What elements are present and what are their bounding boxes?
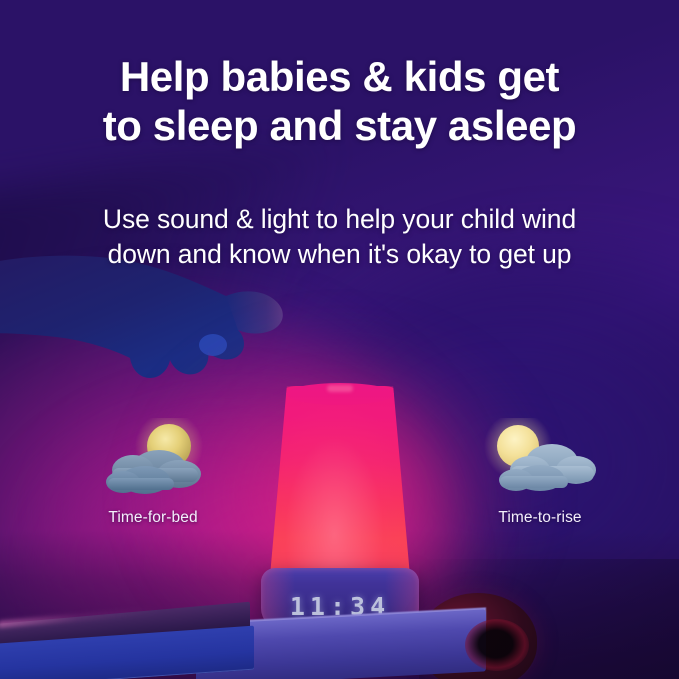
feature-time-for-bed: Time-for-bed (68, 418, 238, 527)
sun-clouds-art (480, 418, 600, 500)
moon-clouds-art (93, 418, 213, 500)
feature-label-time-for-bed: Time-for-bed (68, 509, 238, 527)
subheadline-line-2: down and know when it's okay to get up (0, 237, 679, 271)
lamp-top-button[interactable] (327, 385, 353, 392)
headline-line-2: to sleep and stay asleep (0, 101, 679, 150)
page-title: Help babies & kids get to sleep and stay… (0, 52, 679, 150)
sun-behind-clouds-icon (480, 418, 600, 500)
subheadline-line-1: Use sound & light to help your child win… (0, 202, 679, 236)
page-subtitle: Use sound & light to help your child win… (0, 150, 679, 271)
moon-behind-clouds-icon (93, 418, 213, 500)
dark-round-object-hole (465, 619, 529, 671)
stacked-books (0, 595, 286, 679)
product-lifestyle-image: Help babies & kids get to sleep and stay… (0, 0, 679, 679)
headline-line-1: Help babies & kids get (0, 52, 679, 101)
lamp-dome (270, 386, 410, 576)
fingernail (199, 334, 227, 356)
marketing-copy: Help babies & kids get to sleep and stay… (0, 52, 679, 271)
feature-time-to-rise: Time-to-rise (455, 418, 625, 527)
feature-label-time-to-rise: Time-to-rise (455, 509, 625, 527)
